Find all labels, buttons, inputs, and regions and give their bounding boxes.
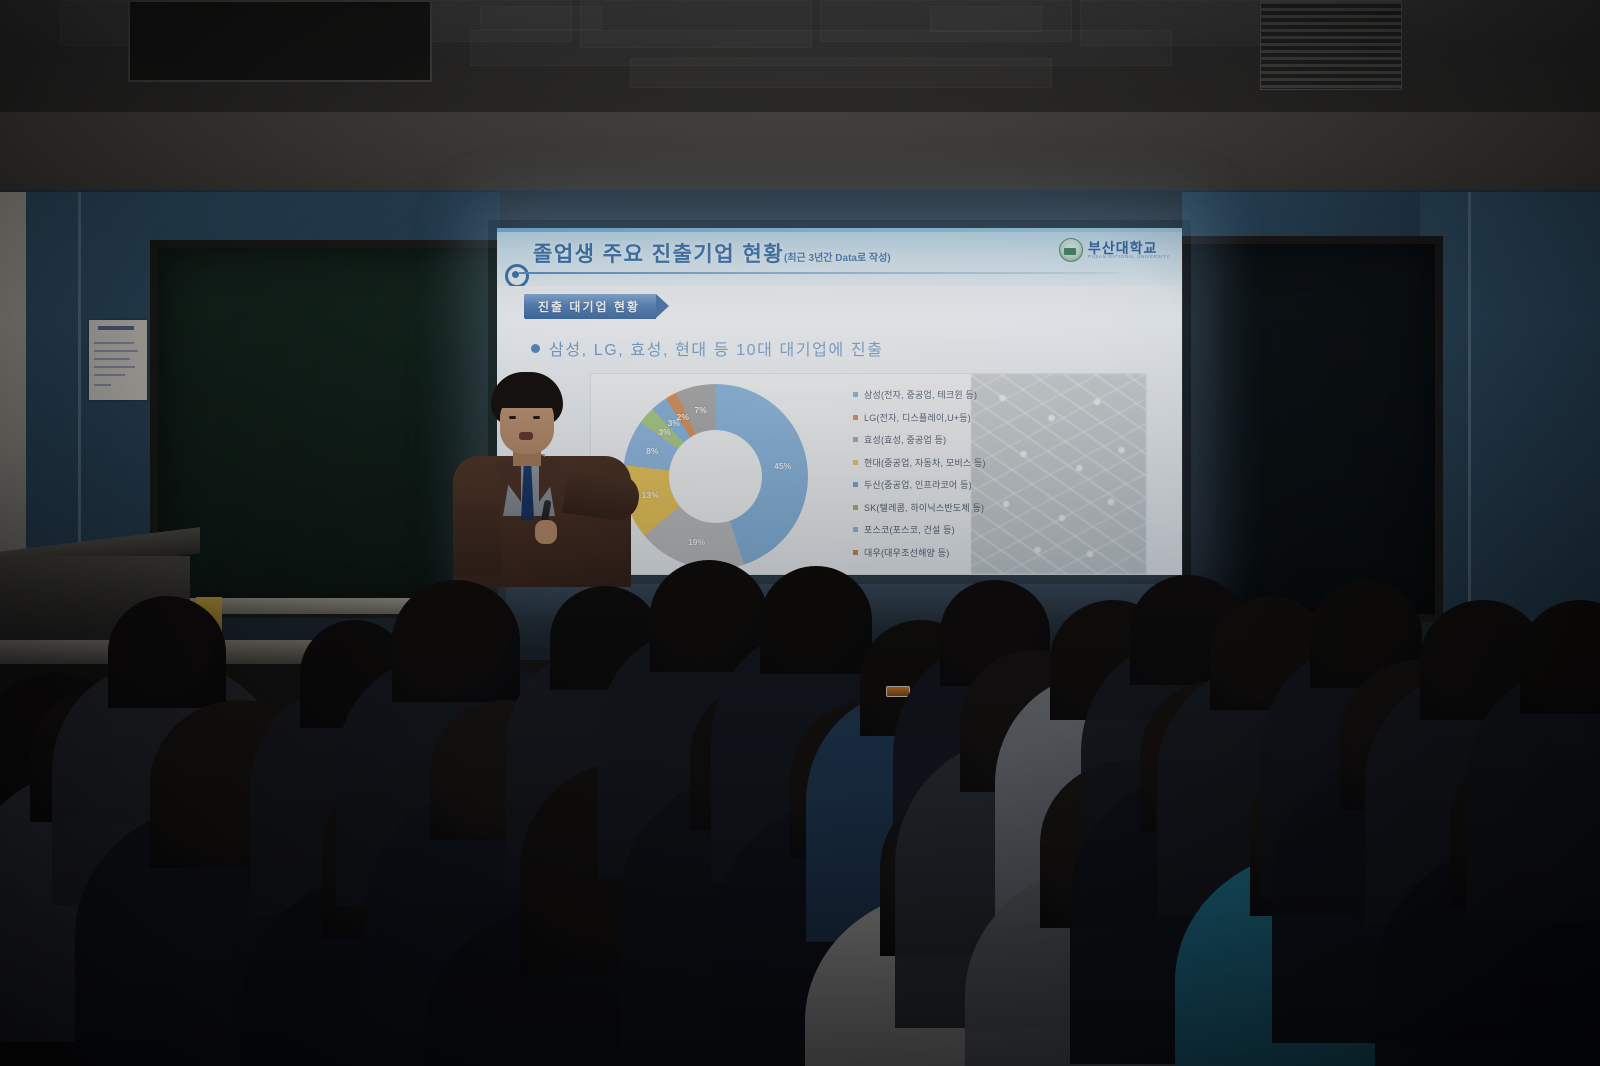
ceiling-vent [128, 0, 432, 82]
legend-swatch-icon [853, 527, 858, 532]
donut-chart: 45%19%13%8%3%3%2%7% [623, 384, 808, 569]
legend-item: 현대(중공업, 자동차, 모비스 등) [853, 456, 1123, 469]
chalkboard-right [1175, 236, 1443, 622]
presenter-mouth [519, 432, 533, 440]
wall-notice [89, 320, 147, 400]
slide-bullet-line: 삼성, LG, 효성, 현대 등 10대 대기업에 진출 [531, 336, 883, 360]
jacket-brand-patch [886, 686, 910, 697]
lecture-hall-photo: 졸업생 주요 진출기업 현황(최근 3년간 Data로 작성) 부산대학교 PU… [0, 0, 1600, 1066]
audience-member-head [392, 580, 520, 702]
chart-panel: 45%19%13%8%3%3%2%7% 삼성(전자, 중공업, 테크윈 등)LG… [590, 373, 1147, 575]
donut-slice-label: 7% [695, 405, 707, 415]
legend-item: 삼성(전자, 중공업, 테크윈 등) [853, 388, 1123, 401]
legend-label: 효성(효성, 중공업 등) [864, 433, 946, 446]
slide-bullet-text: 삼성, LG, 효성, 현대 등 10대 대기업에 진출 [549, 336, 883, 360]
university-logo: 부산대학교 PUSAN NATIONAL UNIVERSITY [1059, 238, 1170, 262]
presenter-hair-front [493, 382, 561, 408]
logo-english-name: PUSAN NATIONAL UNIVERSITY [1088, 255, 1170, 260]
legend-item: 효성(효성, 중공업 등) [853, 433, 1123, 446]
university-emblem-icon [1059, 238, 1083, 262]
legend-label: 삼성(전자, 중공업, 테크윈 등) [864, 388, 977, 401]
legend-label: SK(텔레콤, 하이닉스반도체 등) [864, 501, 984, 514]
donut-slice-label: 45% [774, 461, 791, 471]
legend-item: 포스코(포스코, 건설 등) [853, 523, 1123, 536]
legend-label: 대우(대우조선해양 등) [864, 546, 949, 559]
legend-swatch-icon [853, 550, 858, 555]
legend-swatch-icon [853, 505, 858, 510]
legend-item: SK(텔레콤, 하이닉스반도체 등) [853, 501, 1123, 514]
section-tag-banner: 진출 대기업 현황 [524, 294, 656, 319]
legend-swatch-icon [853, 460, 858, 465]
logo-korean-name: 부산대학교 [1088, 241, 1170, 255]
donut-slice-label: 2% [677, 412, 689, 422]
legend-swatch-icon [853, 392, 858, 397]
donut-slice-label: 19% [688, 537, 705, 547]
legend-swatch-icon [853, 437, 858, 442]
bullet-dot-icon [531, 344, 540, 353]
title-divider [519, 272, 1119, 274]
legend-label: 포스코(포스코, 건설 등) [864, 523, 955, 536]
ceiling [0, 0, 1600, 120]
audience-member-head [760, 566, 872, 674]
slide-title-main: 졸업생 주요 진출기업 현황 [533, 243, 784, 266]
ceiling-air-louver [1260, 0, 1402, 90]
legend-label: 현대(중공업, 자동차, 모비스 등) [864, 456, 986, 469]
legend-item: 두산(중공업, 인프라코어 등) [853, 478, 1123, 491]
legend-item: LG(전자, 디스플레이,U+등) [853, 411, 1123, 424]
presenter [443, 372, 648, 587]
legend-swatch-icon [853, 482, 858, 487]
presenter-arm-left [453, 484, 501, 576]
upper-wall [0, 112, 1600, 196]
legend-label: LG(전자, 디스플레이,U+등) [864, 411, 971, 424]
legend-swatch-icon [853, 415, 858, 420]
chart-legend: 삼성(전자, 중공업, 테크윈 등)LG(전자, 디스플레이,U+등)효성(효성… [853, 388, 1123, 568]
presenter-hand [535, 520, 557, 544]
title-bullet-icon [505, 264, 529, 288]
donut-center-hole [669, 430, 762, 523]
slide-title: 졸업생 주요 진출기업 현황(최근 3년간 Data로 작성) [533, 238, 891, 268]
audience-member-head [108, 596, 226, 708]
legend-item: 대우(대우조선해양 등) [853, 546, 1123, 559]
slide-title-sub: (최근 3년간 Data로 작성) [784, 253, 891, 264]
legend-label: 두산(중공업, 인프라코어 등) [864, 478, 972, 491]
donut-slice-label: 3% [658, 427, 670, 437]
